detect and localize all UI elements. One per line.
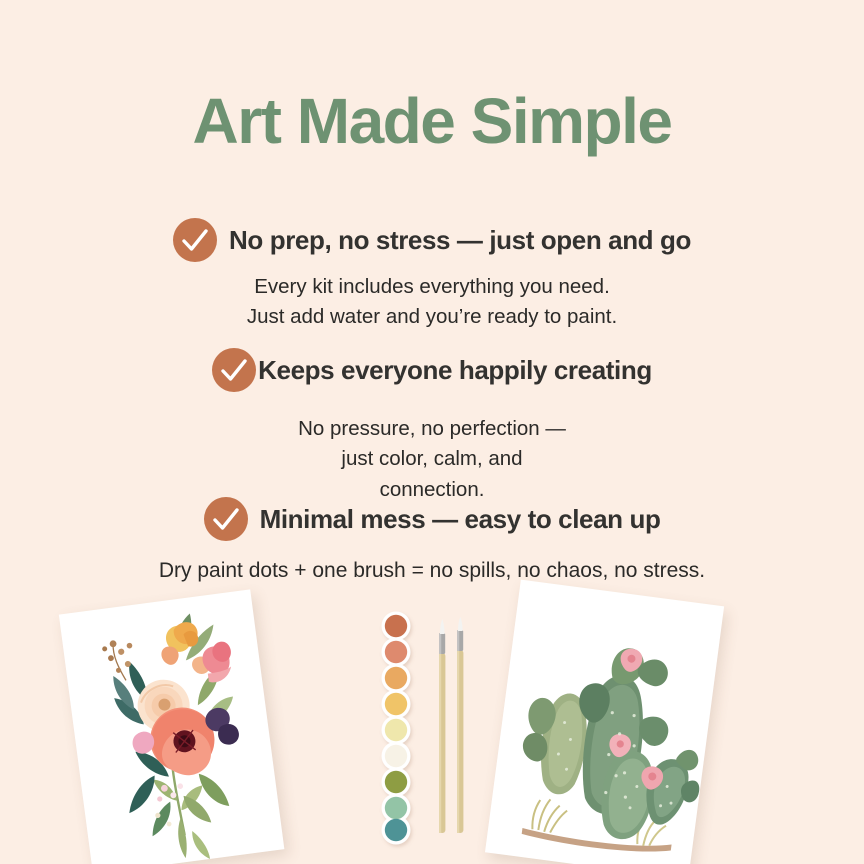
brush-1 xyxy=(439,619,445,833)
poster-canvas: Art Made Simple No prep, no stress — jus… xyxy=(0,0,864,864)
check-icon xyxy=(204,497,248,541)
check-icon xyxy=(173,218,217,262)
brush-2 xyxy=(457,617,463,833)
paint-brushes xyxy=(432,617,476,837)
paint-dot-2 xyxy=(385,641,407,663)
product-artwork-row xyxy=(0,575,864,864)
benefit-2-subtext: No pressure, no perfection — just color,… xyxy=(0,414,864,505)
benefit-3-title: Minimal mess — easy to clean up xyxy=(260,504,661,535)
benefit-1-title: No prep, no stress — just open and go xyxy=(229,225,691,256)
paint-dot-3 xyxy=(385,667,407,689)
paint-dot-6 xyxy=(385,745,407,767)
benefit-1-subtext-line-1: Every kit includes everything you need. xyxy=(0,272,864,302)
benefit-1-subtext: Every kit includes everything you need. … xyxy=(0,272,864,333)
benefit-item-1: No prep, no stress — just open and go Ev… xyxy=(0,218,864,333)
paint-dot-4 xyxy=(385,693,407,715)
paint-dot-5 xyxy=(385,719,407,741)
benefit-1-subtext-line-2: Just add water and you’re ready to paint… xyxy=(0,302,864,332)
benefit-item-3: Minimal mess — easy to clean up Dry pain… xyxy=(0,497,864,586)
benefit-2-header: Keeps everyone happily creating xyxy=(0,348,864,392)
paint-dot-8 xyxy=(385,797,407,819)
benefit-item-2: Keeps everyone happily creating No press… xyxy=(0,348,864,505)
check-icon xyxy=(212,348,256,392)
benefit-2-subtext-line-2: just color, calm, and xyxy=(0,444,864,474)
paint-dot-1 xyxy=(385,615,407,637)
paint-dot-strip xyxy=(372,611,420,839)
cactus-painting xyxy=(485,580,724,864)
page-title: Art Made Simple xyxy=(0,88,864,155)
benefit-2-subtext-line-1: No pressure, no perfection — xyxy=(0,414,864,444)
floral-bouquet-painting xyxy=(59,589,285,864)
paint-dot-7 xyxy=(385,771,407,793)
benefit-2-title: Keeps everyone happily creating xyxy=(258,355,652,386)
paint-dot-9 xyxy=(385,819,407,841)
benefit-3-header: Minimal mess — easy to clean up xyxy=(0,497,864,541)
benefit-1-header: No prep, no stress — just open and go xyxy=(0,218,864,262)
